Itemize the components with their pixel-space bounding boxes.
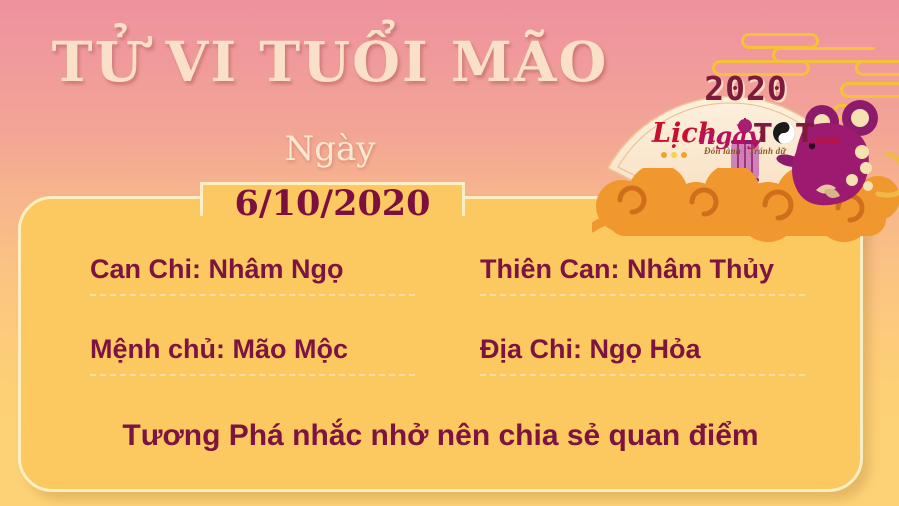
day-label: Ngày [0, 132, 660, 166]
info-label-dia-chi: Địa Chi: Ngọ Hỏa [480, 334, 701, 364]
info-label-menh-chu: Mệnh chủ: Mão Mộc [90, 334, 348, 364]
row-divider [90, 374, 415, 376]
date-value: 6/10/2020 [200, 183, 465, 225]
row-divider [90, 294, 415, 296]
row-divider [480, 374, 805, 376]
info-note: Tương Phá nhắc nhở nên chia sẻ quan điểm [18, 418, 863, 454]
svg-text:.com: .com [810, 133, 840, 147]
page-title: TỬ VI TUỔI MÃO [0, 34, 660, 89]
horoscope-banner: 2020 Lịch ngày T T .com Đón lành - Tránh… [0, 0, 899, 506]
brand-year: 2020 [686, 72, 806, 105]
row-divider [480, 294, 805, 296]
line-cloud-icon [855, 60, 899, 76]
info-label-can-chi: Can Chi: Nhâm Ngọ [90, 254, 344, 284]
brand-tagline: Đón lành - Tránh dữ [650, 146, 840, 156]
svg-text:T: T [754, 119, 772, 149]
